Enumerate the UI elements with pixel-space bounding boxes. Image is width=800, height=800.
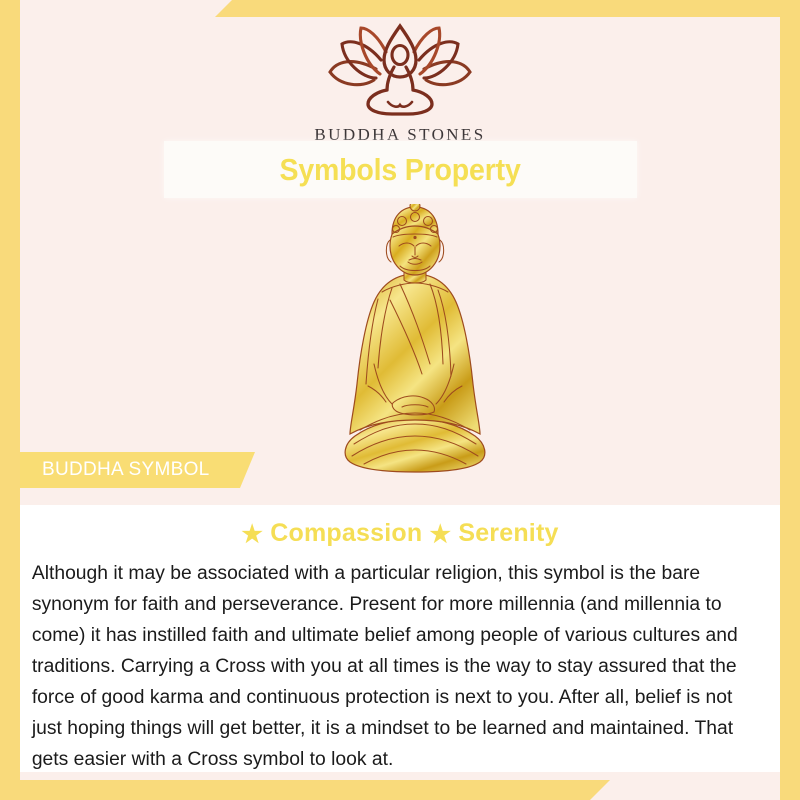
content-paragraph: Although it may be associated with a par… bbox=[20, 548, 769, 775]
star-icon-right: ★ bbox=[429, 521, 451, 548]
lotus-meditation-icon bbox=[0, 22, 800, 123]
title-card: Symbols Property bbox=[164, 141, 637, 198]
content-panel: ★ Compassion ★ Serenity Although it may … bbox=[20, 505, 780, 772]
frame-accent-bottom bbox=[0, 780, 610, 800]
page-title: Symbols Property bbox=[280, 152, 521, 188]
headline-word-compassion: Compassion bbox=[270, 519, 422, 547]
star-icon-left: ★ bbox=[241, 521, 263, 548]
ribbon-label: BUDDHA SYMBOL bbox=[20, 459, 210, 481]
infographic-page: BUDDHA STONES Symbols Property bbox=[0, 0, 800, 800]
buddha-symbol-ribbon: BUDDHA SYMBOL bbox=[20, 452, 255, 488]
brand-logo: BUDDHA STONES bbox=[0, 22, 800, 145]
headline-word-serenity: Serenity bbox=[458, 519, 558, 547]
frame-accent-top bbox=[215, 0, 800, 17]
golden-seated-buddha-illustration bbox=[330, 204, 500, 489]
content-headline: ★ Compassion ★ Serenity bbox=[20, 505, 780, 548]
